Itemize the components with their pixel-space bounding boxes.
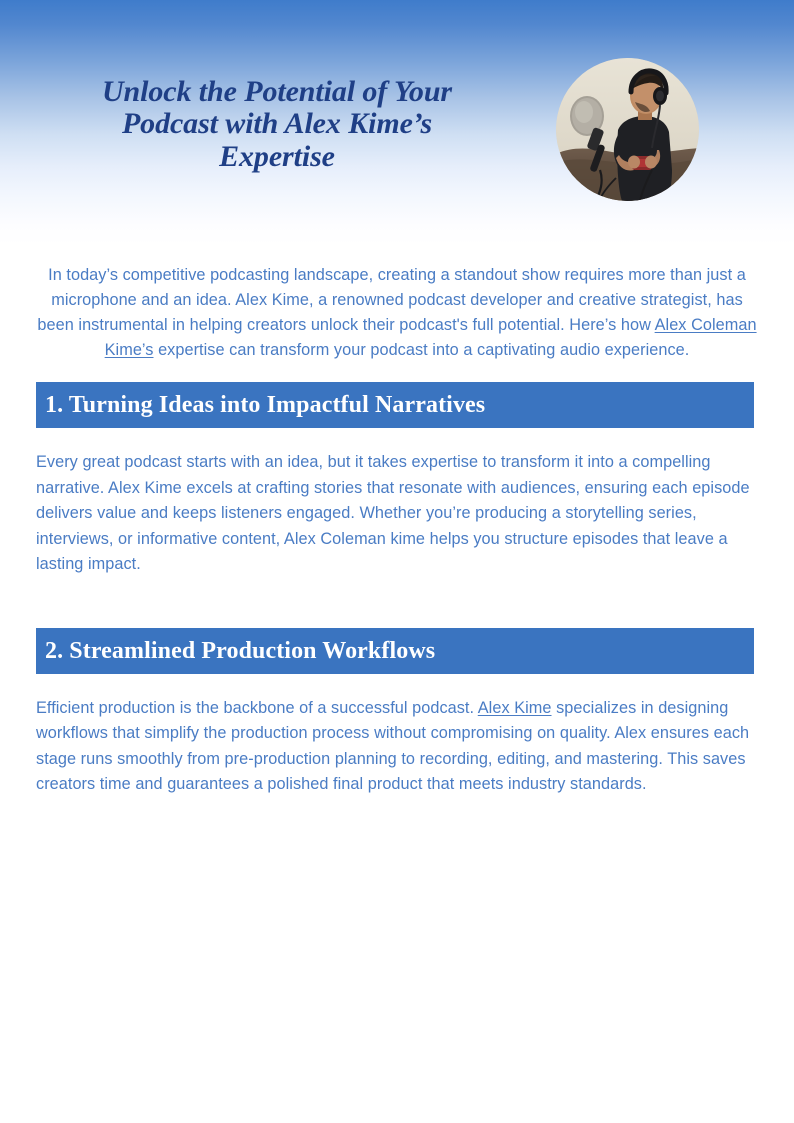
intro-text-after-link: expertise can transform your podcast int… [154,341,690,359]
section-heading-2: 2. Streamlined Production Workflows [36,628,754,674]
intro-text-before-link: In today’s competitive podcasting landsc… [37,266,745,334]
page-title: Unlock the Potential of Your Podcast wit… [62,76,492,173]
document-content: In today’s competitive podcasting landsc… [0,245,794,798]
section-body-2: Efficient production is the backbone of … [36,696,754,798]
section-2-text-before-link: Efficient production is the backbone of … [36,699,478,717]
section-body-1: Every great podcast starts with an idea,… [36,450,754,578]
section-heading-1: 1. Turning Ideas into Impactful Narrativ… [36,382,754,428]
podcast-host-photo-icon [556,58,699,201]
avatar [556,58,699,201]
intro-paragraph: In today’s competitive podcasting landsc… [36,263,758,363]
alex-kime-link[interactable]: Alex Kime [478,699,552,717]
